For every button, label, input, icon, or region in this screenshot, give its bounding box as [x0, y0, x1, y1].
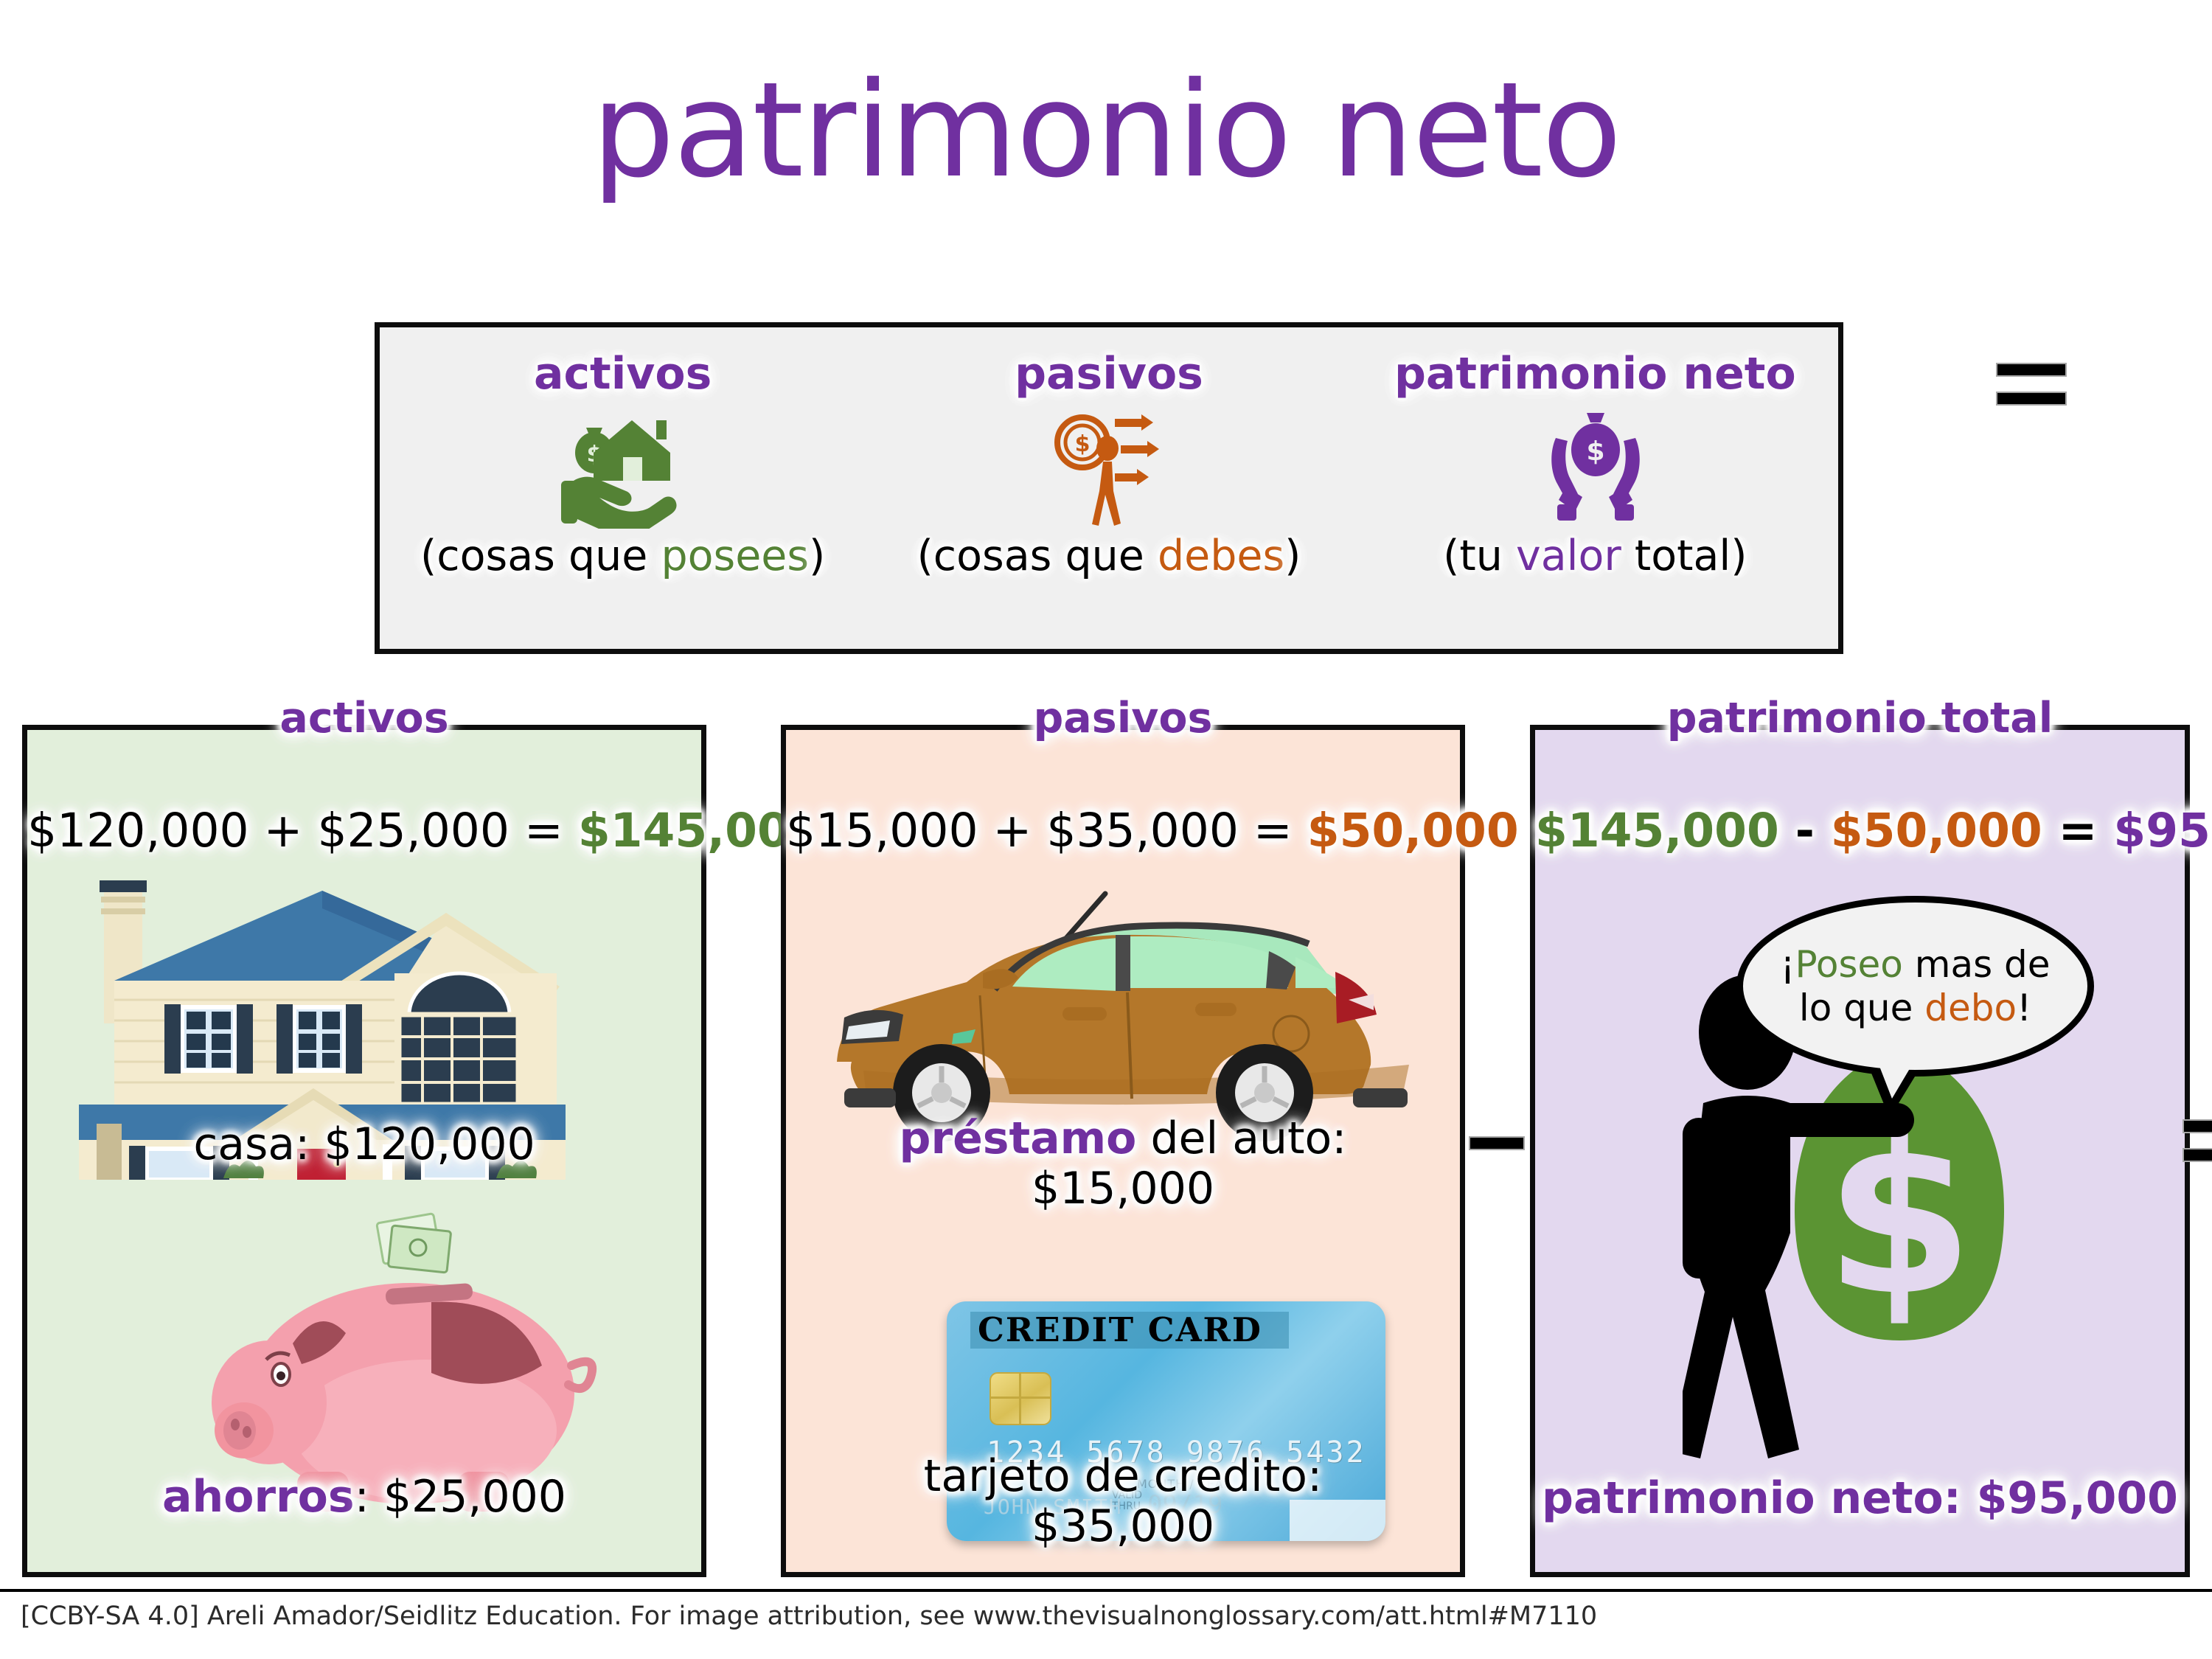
panel-activos: activos $120,000 + $25,000 = $145,000: [22, 725, 706, 1577]
equation-minus: -: [1779, 804, 1831, 858]
equation-operand-b: $25,000: [317, 804, 509, 858]
equation-operand-a: $120,000: [27, 804, 249, 858]
credit-card-chip-icon: [990, 1372, 1051, 1425]
caption-value: : $25,000: [355, 1471, 566, 1523]
equation-patrimonio-total: $145,000 - $50,000 = $95,000: [1535, 804, 2185, 858]
gloss-prefix: (tu: [1443, 532, 1516, 580]
hands-holding-moneybag-icon: $: [1531, 405, 1660, 530]
page-title: patrimonio neto: [0, 65, 2212, 196]
definition-box: activos $ (cosas que posees): [375, 322, 1843, 654]
svg-text:$: $: [1586, 437, 1604, 467]
equation-equals: =: [509, 804, 578, 858]
gloss-highlight: posees: [661, 532, 809, 580]
equation-result: $95,000: [2113, 804, 2212, 858]
car-illustration: [819, 877, 1431, 1143]
caption-tarjeto-credito: tarjeto de credito:: [786, 1453, 1460, 1500]
caption-term: ahorros: [162, 1471, 355, 1523]
gloss-prefix: (cosas que: [420, 532, 661, 580]
equals-sign-top: [1996, 363, 2067, 411]
panel-patrimonio-total: patrimonio total $145,000 - $50,000 = $9…: [1530, 725, 2190, 1577]
speech-bubble-line-2: lo que debo!: [1799, 987, 2031, 1030]
panel-title-patrimonio-total: patrimonio total: [1535, 694, 2185, 742]
definition-column-patrimonio-neto: patrimonio neto $ (tu valor total): [1352, 327, 1838, 649]
caption-prestamo-auto: préstamo del auto:: [786, 1115, 1460, 1163]
equation-equals: =: [2042, 804, 2114, 858]
panel-title-pasivos: pasivos: [786, 694, 1460, 742]
gloss-suffix: ): [1284, 532, 1301, 580]
equals-sign-right: [2183, 1119, 2212, 1168]
caption-ahorros: ahorros: $25,000: [27, 1473, 701, 1521]
caption-term: casa: [193, 1119, 295, 1170]
bubble-line2-post: !: [2017, 987, 2031, 1029]
definition-gloss-pasivos: (cosas que debes): [917, 535, 1301, 579]
equation-equals: =: [1239, 804, 1307, 858]
bubble-line1-post: mas de: [1903, 943, 2051, 986]
equation-plus: +: [978, 804, 1047, 858]
equals-bar-upper: [1996, 363, 2067, 377]
gloss-highlight: debes: [1158, 532, 1284, 580]
definition-gloss-activos: (cosas que posees): [420, 535, 825, 579]
minus-bar: [1469, 1136, 1525, 1150]
gloss-prefix: (cosas que: [917, 532, 1158, 580]
equation-operand-b: $50,000: [1831, 804, 2042, 858]
caption-rest: del auto:: [1136, 1113, 1346, 1164]
bubble-line2-highlight: debo: [1924, 987, 2017, 1029]
definition-term-patrimonio-neto: patrimonio neto: [1394, 351, 1796, 397]
bubble-line1-highlight: Poseo: [1795, 943, 1902, 986]
gloss-suffix: total): [1621, 532, 1747, 580]
definition-column-activos: activos $ (cosas que posees): [380, 327, 866, 649]
equation-pasivos: $15,000 + $35,000 = $50,000: [786, 804, 1460, 858]
definition-term-activos: activos: [534, 351, 712, 397]
definition-gloss-patrimonio-neto: (tu valor total): [1443, 535, 1747, 579]
speech-bubble-text: ¡Poseo mas de lo que debo!: [1736, 896, 2094, 1077]
speech-bubble-line-1: ¡Poseo mas de: [1780, 943, 2050, 987]
equation-operand-a: $145,000: [1535, 804, 1779, 858]
hand-holding-house-moneybag-icon: $: [558, 405, 687, 530]
footer-divider: [0, 1589, 2212, 1592]
equals-bar-lower: [2183, 1148, 2212, 1162]
gloss-suffix: ): [809, 532, 825, 580]
bubble-line2-pre: lo que: [1799, 987, 1924, 1029]
equals-bar-upper: [2183, 1119, 2212, 1133]
caption-tarjeto-credito-value: $35,000: [786, 1503, 1460, 1551]
caption-patrimonio-neto: patrimonio neto: $95,000: [1535, 1475, 2185, 1523]
caption-term: préstamo: [900, 1113, 1137, 1164]
equals-bar-lower: [1996, 392, 2067, 406]
minus-sign: [1469, 1136, 1525, 1152]
equation-activos: $120,000 + $25,000 = $145,000: [27, 804, 701, 858]
caption-prestamo-auto-value: $15,000: [786, 1165, 1460, 1213]
caption-casa: casa: $120,000: [27, 1121, 701, 1169]
definition-column-pasivos: pasivos $: [866, 327, 1352, 649]
footer-attribution: [CCBY-SA 4.0] Areli Amador/Seidlitz Educ…: [21, 1601, 1597, 1631]
svg-text:$: $: [1075, 431, 1091, 457]
caption-value: : $120,000: [295, 1119, 535, 1170]
bubble-line1-pre: ¡: [1780, 943, 1795, 986]
definition-term-pasivos: pasivos: [1015, 351, 1203, 397]
equation-result: $50,000: [1307, 804, 1519, 858]
speech-bubble: ¡Poseo mas de lo que debo!: [1736, 896, 2094, 1077]
panel-title-activos: activos: [27, 694, 701, 742]
person-owing-money-arrows-icon: $: [1044, 405, 1173, 530]
gloss-highlight: valor: [1516, 532, 1621, 580]
equation-operand-b: $35,000: [1046, 804, 1239, 858]
credit-card-title: CREDIT CARD: [947, 1310, 1293, 1349]
equation-plus: +: [249, 804, 318, 858]
equation-operand-a: $15,000: [786, 804, 978, 858]
